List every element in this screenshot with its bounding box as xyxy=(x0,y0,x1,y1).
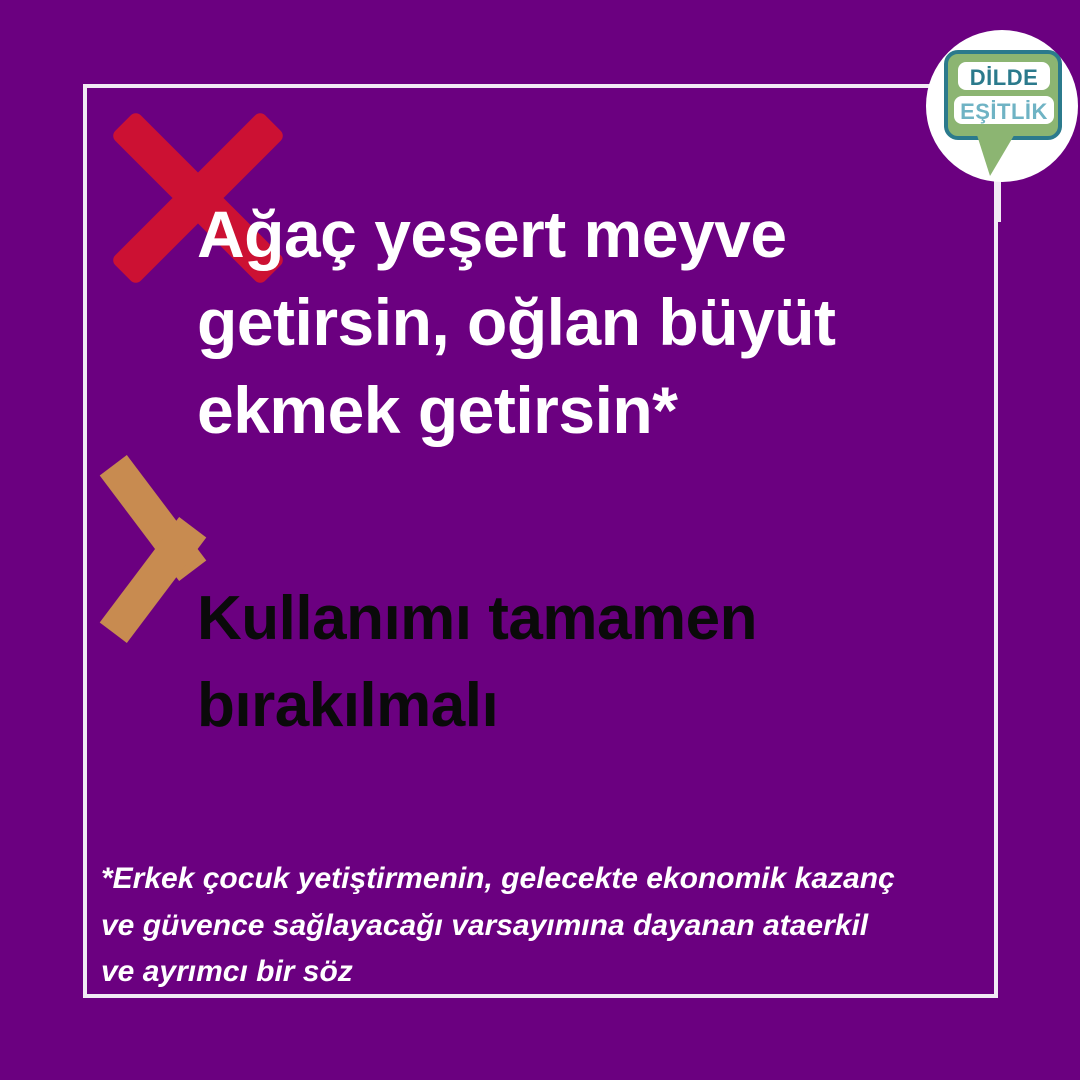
footnote-line-3: ve ayrımcı bir söz xyxy=(101,949,981,996)
brand-logo: DİLDE EŞİTLİK xyxy=(918,22,1078,222)
footnote-line-1: *Erkek çocuk yetiştirmenin, gelecekte ek… xyxy=(101,856,981,903)
logo-text-line-2: EŞİTLİK xyxy=(954,96,1054,124)
logo-text-line-1: DİLDE xyxy=(958,62,1050,90)
footnote-text: *Erkek çocuk yetiştirmenin, gelecekte ek… xyxy=(101,856,981,996)
footnote-line-2: ve güvence sağlayacağı varsayımına dayan… xyxy=(101,903,981,950)
speech-bubble-tail xyxy=(976,132,1016,176)
poster-canvas: Ağaç yeşert meyve getirsin, oğlan büyüt … xyxy=(0,0,1080,1080)
wrong-phrase-text: Ağaç yeşert meyve getirsin, oğlan büyüt … xyxy=(197,191,937,454)
recommendation-text: Kullanımı tamamen bırakılmalı xyxy=(197,576,937,750)
